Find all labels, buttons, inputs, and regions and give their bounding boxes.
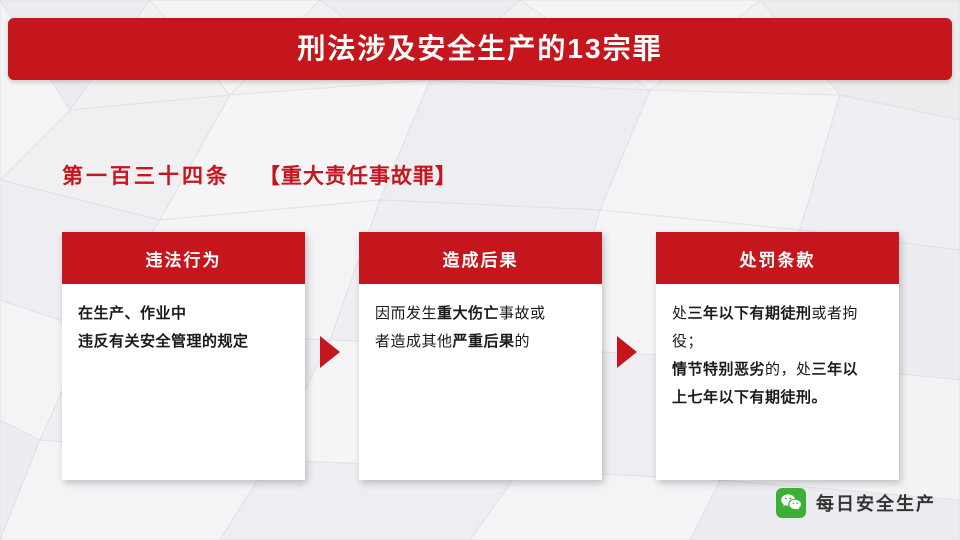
text-segment: 的 xyxy=(515,333,531,350)
card-consequence: 造成后果 因而发生重大伤亡事故或 者造成其他严重后果的 xyxy=(359,232,602,480)
slide-title-bar: 刑法涉及安全生产的13宗罪 xyxy=(8,18,952,80)
card-penalty-line-1: 处三年以下有期徒刑或者拘 xyxy=(672,300,883,328)
text-segment: 重大伤亡 xyxy=(437,305,499,322)
arrow-1-icon xyxy=(320,336,340,368)
card-penalty-line-3: 情节特别恶劣的，处三年以 xyxy=(672,356,883,384)
text-segment: 严重后果 xyxy=(453,333,515,350)
card-penalty: 处罚条款 处三年以下有期徒刑或者拘 役； 情节特别恶劣的，处三年以 上七年以下有… xyxy=(656,232,899,480)
text-segment: 或者拘 xyxy=(812,305,859,322)
cards-container: 违法行为 在生产、作业中 违反有关安全管理的规定 造成后果 因而发生重大伤亡事故… xyxy=(62,232,902,480)
card-consequence-line-1: 因而发生重大伤亡事故或 xyxy=(375,300,586,328)
text-segment: 上七年以下有期徒刑。 xyxy=(672,389,827,406)
text-segment: 役； xyxy=(672,333,703,350)
text-segment: 的，处 xyxy=(765,361,812,378)
text-segment: 违反有关安全管理的规定 xyxy=(78,333,249,350)
page-title: 刑法涉及安全生产的13宗罪 xyxy=(297,35,662,63)
card-violation-line-1: 在生产、作业中 xyxy=(78,300,289,328)
card-violation-line-2: 违反有关安全管理的规定 xyxy=(78,328,289,356)
card-violation-header: 违法行为 xyxy=(62,232,305,284)
card-penalty-line-2: 役； xyxy=(672,328,883,356)
article-heading: 第一百三十四条 【重大责任事故罪】 xyxy=(62,160,457,190)
card-violation: 违法行为 在生产、作业中 违反有关安全管理的规定 xyxy=(62,232,305,480)
text-segment: 三年以下有期徒刑 xyxy=(688,305,812,322)
text-segment: 处 xyxy=(672,305,688,322)
slide-root: 刑法涉及安全生产的13宗罪 第一百三十四条 【重大责任事故罪】 违法行为 在生产… xyxy=(0,0,960,540)
text-segment: 事故或 xyxy=(499,305,546,322)
card-consequence-body: 因而发生重大伤亡事故或 者造成其他严重后果的 xyxy=(359,284,602,366)
card-penalty-header: 处罚条款 xyxy=(656,232,899,284)
text-segment: 者造成其他 xyxy=(375,333,453,350)
footer-brand-label: 每日安全生产 xyxy=(816,490,936,516)
wechat-icon xyxy=(776,488,806,518)
text-segment: 情节特别恶劣 xyxy=(672,361,765,378)
article-name: 【重大责任事故罪】 xyxy=(259,165,457,188)
card-violation-body: 在生产、作业中 违反有关安全管理的规定 xyxy=(62,284,305,366)
text-segment: 因而发生 xyxy=(375,305,437,322)
text-segment: 在生产、作业中 xyxy=(78,305,187,322)
text-segment: 三年以 xyxy=(812,361,859,378)
footer-brand: 每日安全生产 xyxy=(776,488,936,518)
card-penalty-body: 处三年以下有期徒刑或者拘 役； 情节特别恶劣的，处三年以 上七年以下有期徒刑。 xyxy=(656,284,899,422)
article-number: 第一百三十四条 xyxy=(62,165,230,188)
card-consequence-header: 造成后果 xyxy=(359,232,602,284)
card-penalty-line-4: 上七年以下有期徒刑。 xyxy=(672,384,883,412)
arrow-2-icon xyxy=(617,336,637,368)
card-consequence-line-2: 者造成其他严重后果的 xyxy=(375,328,586,356)
